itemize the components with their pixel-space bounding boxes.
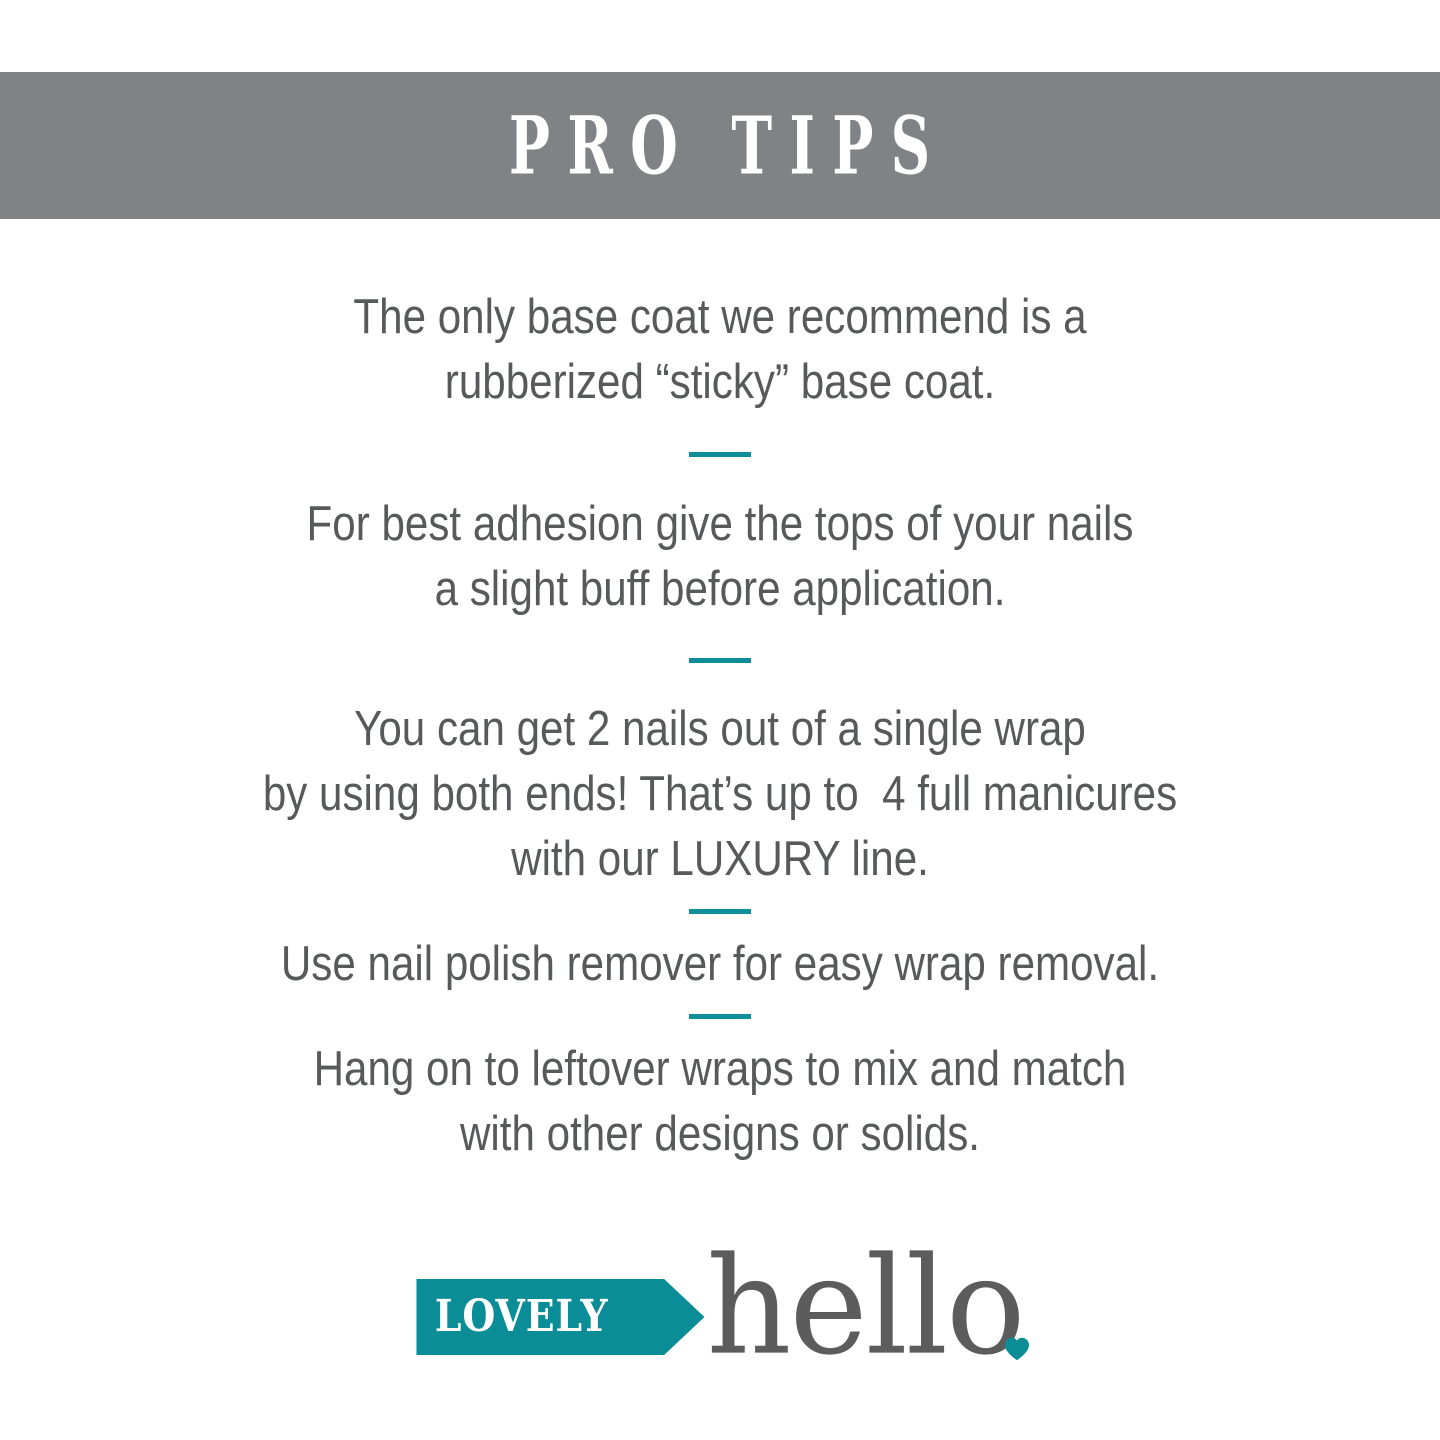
spacer: [0, 457, 1440, 492]
spacer: [0, 1019, 1440, 1037]
tip-line: Hang on to leftover wraps to mix and mat…: [101, 1037, 1339, 1102]
tip-line: rubberized “sticky” base coat.: [101, 350, 1339, 415]
divider-rule: [689, 1014, 751, 1019]
tip-two-nails-per-wrap: You can get 2 nails out of a single wrap…: [0, 697, 1440, 892]
divider-rule: [689, 658, 751, 663]
tip-line: The only base coat we recommend is a: [101, 285, 1339, 350]
spacer: [0, 415, 1440, 452]
spacer: [0, 997, 1440, 1014]
hello-wordmark-text: hello: [706, 1245, 1023, 1369]
tip-line: with other designs or solids.: [101, 1102, 1339, 1167]
tip-line: You can get 2 nails out of a single wrap: [101, 697, 1339, 762]
spacer: [0, 663, 1440, 697]
spacer: [0, 892, 1440, 909]
heart-icon: [1004, 1337, 1030, 1361]
lovely-badge: LOVELY: [416, 1279, 704, 1355]
spacer: [0, 914, 1440, 932]
tip-leftover-wraps: Hang on to leftover wraps to mix and mat…: [0, 1037, 1440, 1167]
divider-rule: [689, 909, 751, 914]
header-banner: PRO TIPS: [0, 72, 1440, 219]
tip-adhesion-buff: For best adhesion give the tops of your …: [0, 492, 1440, 622]
tip-line: Use nail polish remover for easy wrap re…: [101, 932, 1339, 997]
tips-list: The only base coat we recommend is a rub…: [0, 219, 1440, 1167]
tip-line: with our LUXURY line.: [101, 827, 1339, 892]
tip-line: by using both ends! That’s up to 4 full …: [101, 762, 1339, 827]
spacer: [0, 622, 1440, 658]
brand-logo: LOVELY hello: [0, 1222, 1440, 1382]
tip-base-coat: The only base coat we recommend is a rub…: [0, 285, 1440, 415]
logo-lockup: LOVELY hello: [416, 1227, 1023, 1377]
pro-tips-card: PRO TIPS The only base coat we recommend…: [0, 0, 1440, 1440]
tip-line: a slight buff before application.: [101, 557, 1339, 622]
lovely-badge-label: LOVELY: [416, 1295, 608, 1339]
tip-line: For best adhesion give the tops of your …: [101, 492, 1339, 557]
hello-wordmark: hello: [706, 1248, 1023, 1369]
page-title: PRO TIPS: [492, 106, 948, 186]
tip-polish-remover: Use nail polish remover for easy wrap re…: [0, 932, 1440, 997]
divider-rule: [689, 452, 751, 457]
